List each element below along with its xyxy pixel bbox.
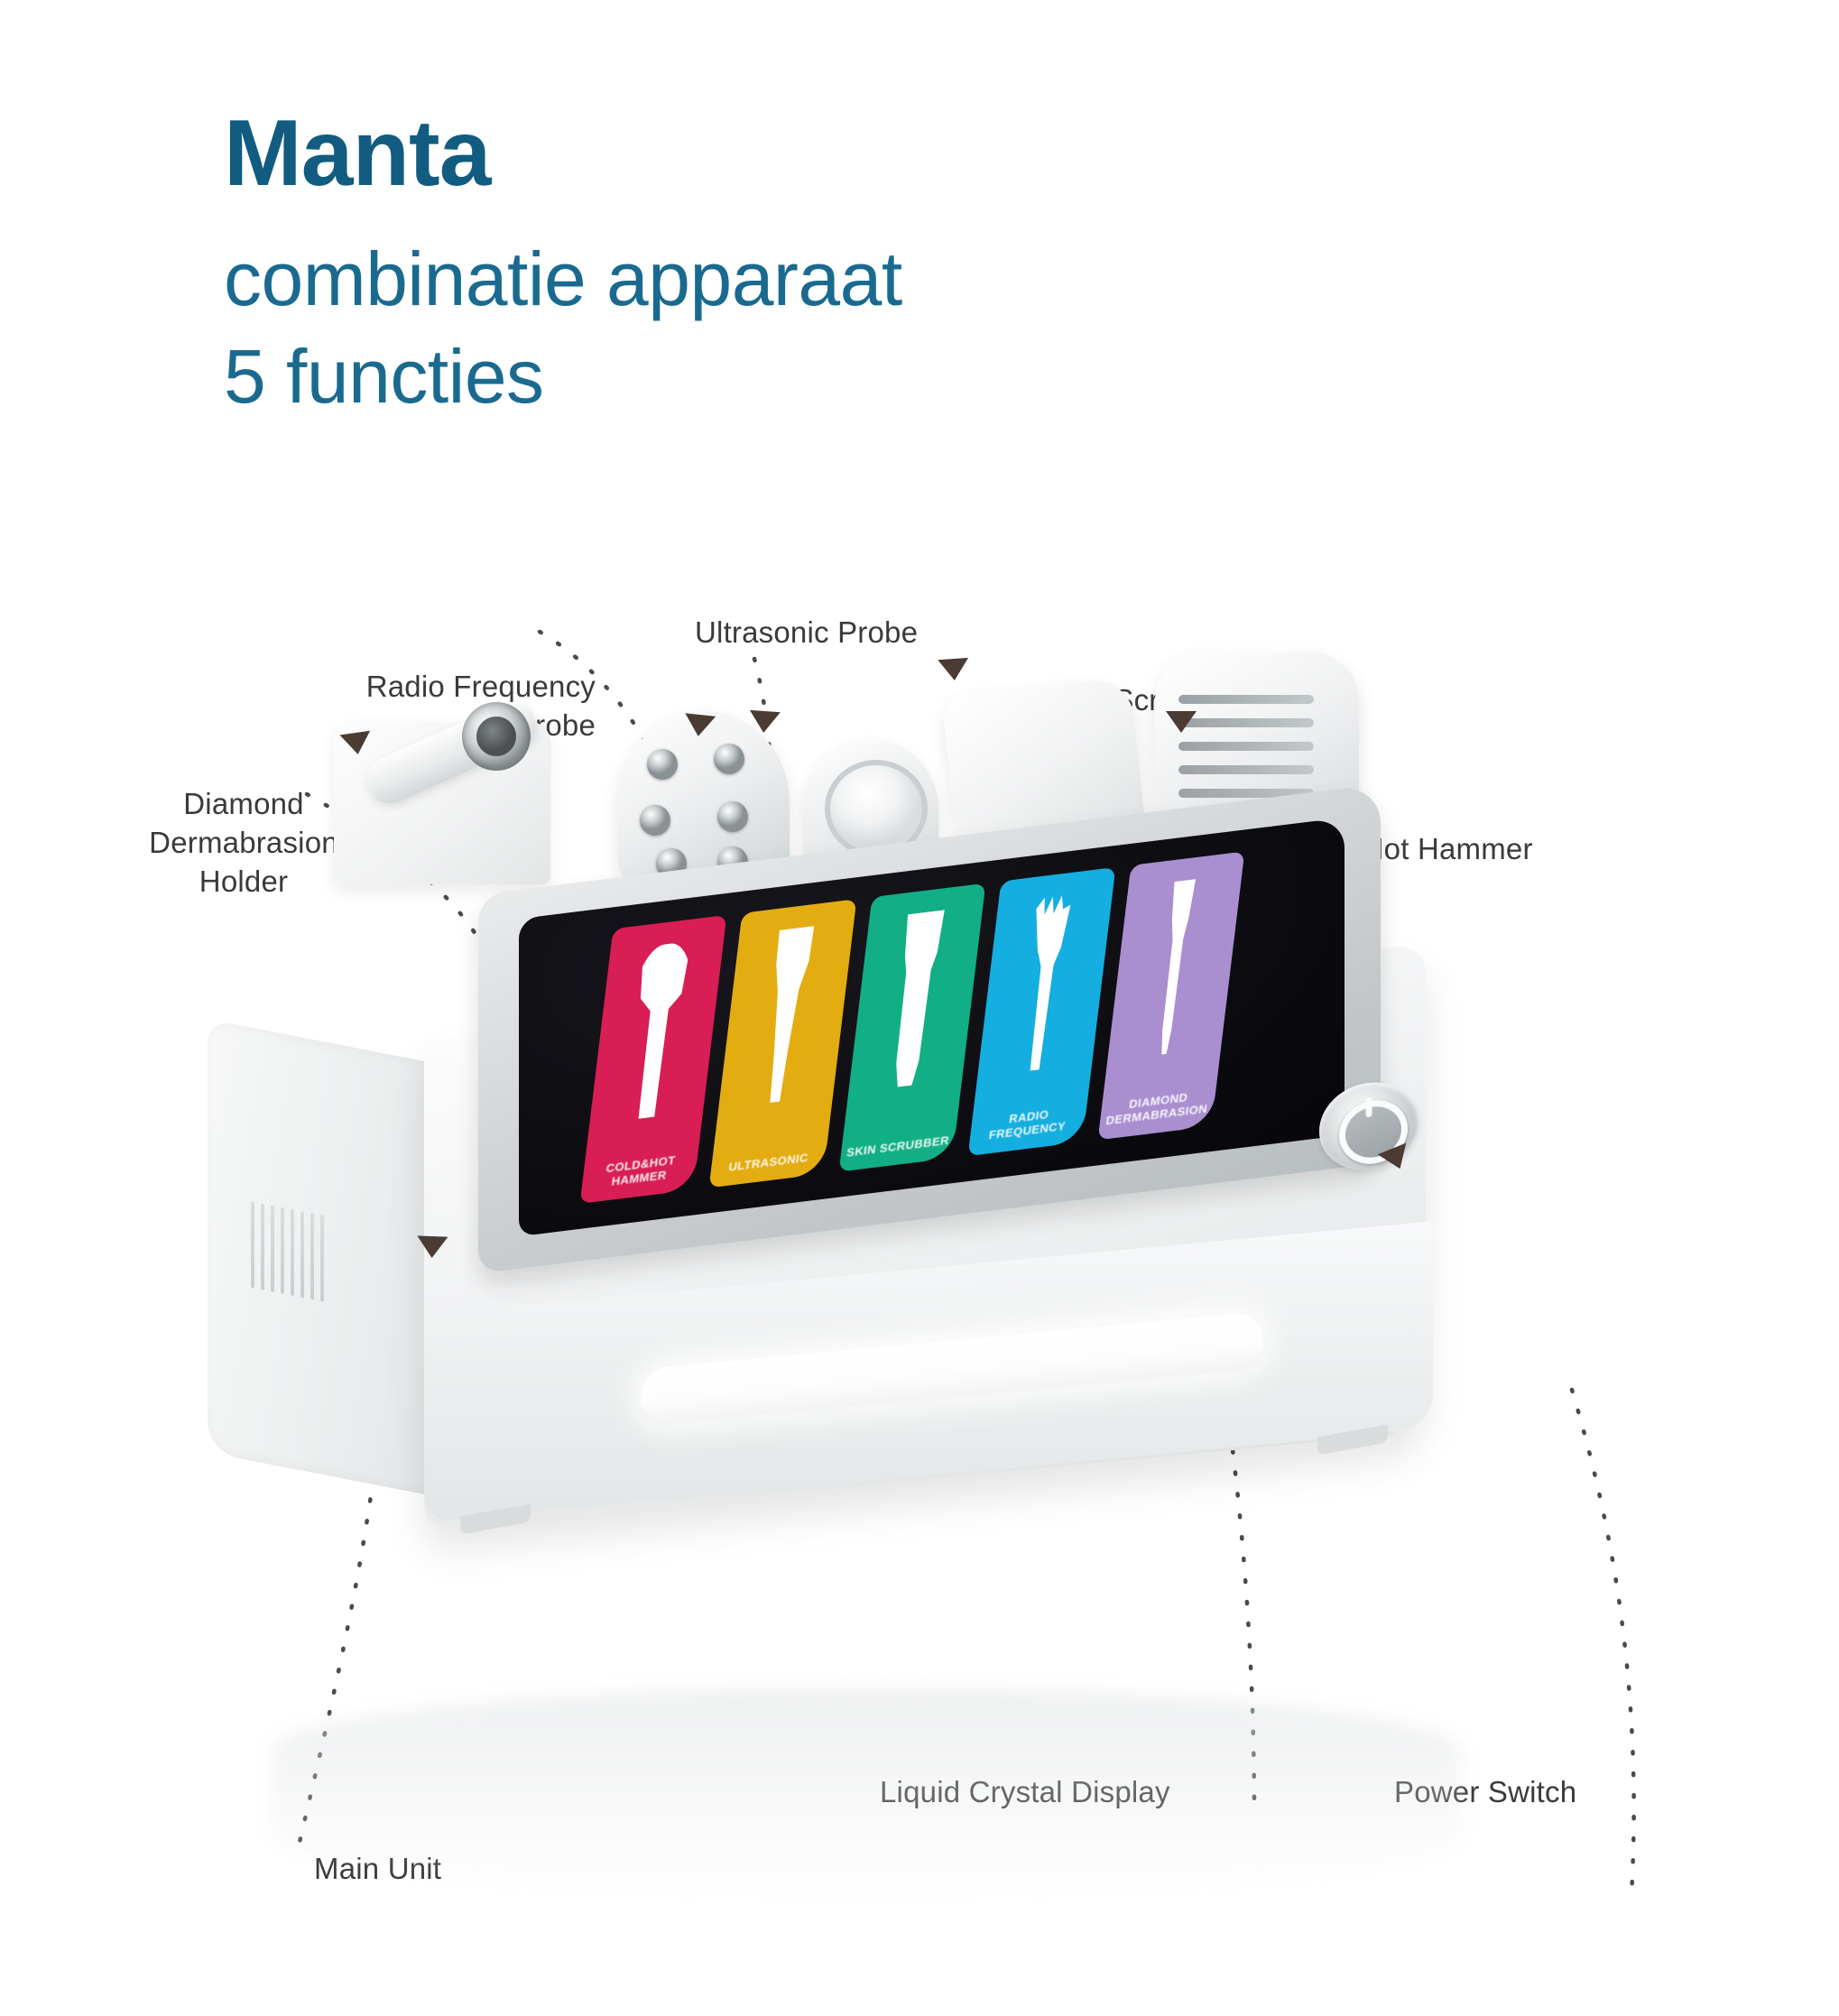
device-illustration: COLD&HOT HAMMER ULTRASONIC SKIN SCRUBBER… [208, 812, 1669, 1715]
subtitle-line-2: 5 functies [224, 328, 1487, 426]
rf-electrode-ball [640, 805, 670, 836]
page-title: Manta [224, 106, 1487, 200]
diamond-dermabrasion-tip [462, 702, 531, 771]
device-foot [460, 1503, 531, 1534]
dermabrasion-tip-hole [476, 717, 516, 756]
function-tile-row: COLD&HOT HAMMER ULTRASONIC SKIN SCRUBBER… [580, 851, 1245, 1203]
infographic-page: Manta combinatie apparaat 5 functies Rad… [0, 0, 1839, 2016]
tile-label: COLD&HOT HAMMER [581, 1151, 698, 1193]
arrow-ultrasonic [748, 710, 781, 734]
cold-hot-hammer-icon [610, 939, 704, 1123]
heading-block: Manta combinatie apparaat 5 functies [224, 106, 1487, 425]
ultrasonic-probe-icon [739, 923, 833, 1106]
ventilation-grille [251, 1201, 334, 1304]
tile-radio-frequency[interactable]: RADIO FREQUENCY [968, 867, 1115, 1156]
power-icon-bar [1366, 1097, 1372, 1118]
skin-scrubber-icon [869, 908, 963, 1091]
tile-ultrasonic[interactable]: ULTRASONIC [709, 899, 856, 1188]
device-reflection [271, 1688, 1462, 1895]
radio-frequency-icon [998, 892, 1092, 1075]
tile-cold-hot-hammer[interactable]: COLD&HOT HAMMER [580, 915, 727, 1204]
rf-electrode-ball [717, 801, 748, 832]
diamond-dermabrasion-icon [1128, 876, 1222, 1059]
tile-diamond-dermabrasion[interactable]: DIAMOND DERMABRASION [1097, 851, 1244, 1140]
arrow-radio-frequency [683, 713, 716, 737]
device-foot [1317, 1424, 1388, 1455]
tile-label: RADIO FREQUENCY [969, 1103, 1086, 1145]
tile-skin-scrubber[interactable]: SKIN SCRUBBER [838, 883, 985, 1172]
tile-label: DIAMOND DERMABRASION [1099, 1087, 1216, 1129]
arrow-diamond-holder [339, 731, 373, 756]
arrow-skin-scrubber [938, 658, 970, 681]
rf-electrode-ball [647, 749, 678, 780]
tile-label: ULTRASONIC [710, 1149, 826, 1177]
arrow-cold-hot-hammer [1166, 711, 1197, 733]
rf-electrode-ball [714, 744, 744, 774]
arrow-main-unit [417, 1235, 448, 1258]
tile-label: SKIN SCRUBBER [840, 1133, 956, 1161]
subtitle-line-1: combinatie apparaat [224, 231, 1487, 328]
